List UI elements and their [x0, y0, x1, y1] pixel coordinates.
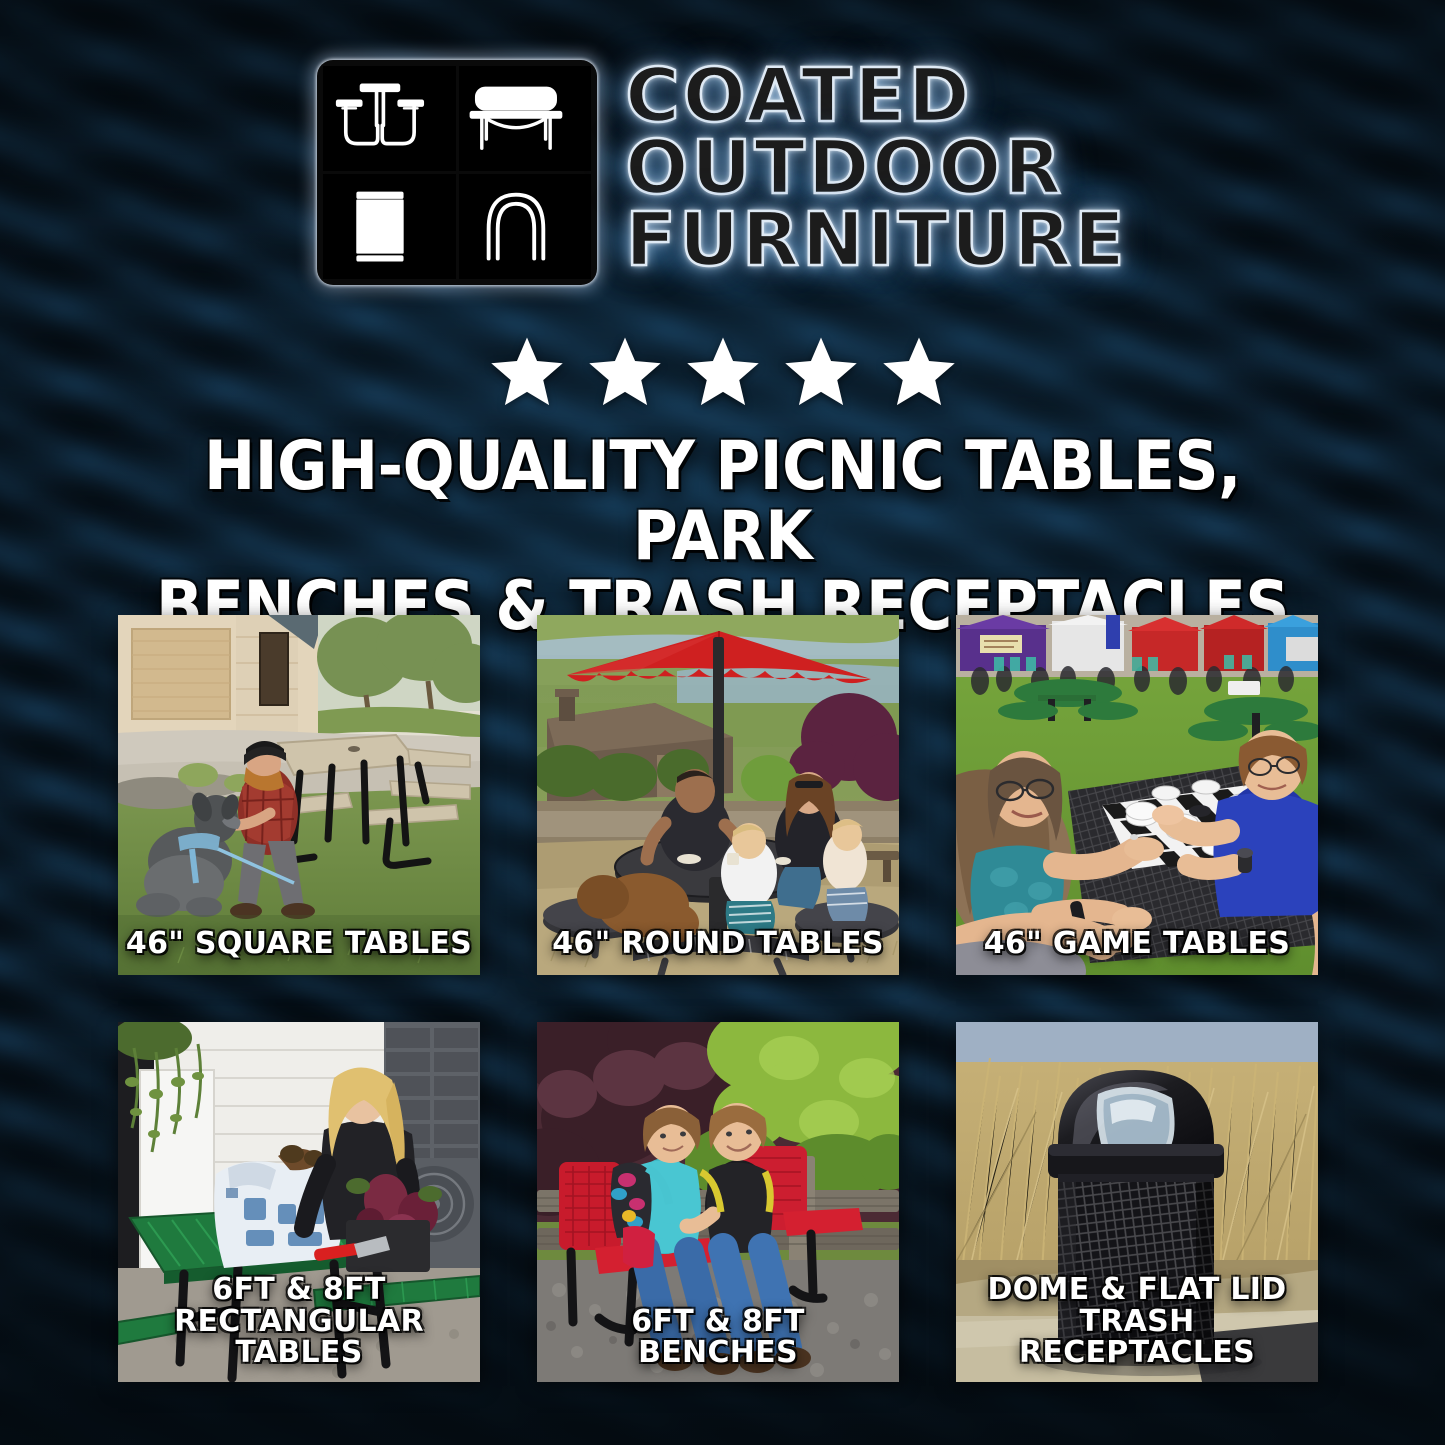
logo-cell-picnic-table	[323, 66, 456, 171]
product-photo-square-tables	[118, 615, 480, 975]
wordmark-line-3: FURNITURE	[625, 206, 1127, 274]
caption-line-2: RECTANGULAR TABLES	[124, 1306, 474, 1368]
star-icon-2	[585, 333, 665, 411]
product-grid: 46" SQUARE TABLES	[118, 615, 1328, 1382]
caption-line-1: 6FT & 8FT	[124, 1274, 474, 1305]
product-photo-game-tables	[956, 615, 1318, 975]
product-tile-square-tables[interactable]: 46" SQUARE TABLES	[118, 615, 480, 975]
caption-line-1: 6FT & 8FT	[543, 1306, 893, 1337]
star-icon-1	[487, 333, 567, 411]
caption-line-2: BENCHES	[543, 1337, 893, 1368]
caption-line-2: TRASH RECEPTACLES	[962, 1306, 1312, 1368]
star-rating	[0, 333, 1445, 411]
headline: HIGH-QUALITY PICNIC TABLES, PARK BENCHES…	[126, 432, 1319, 642]
product-caption-benches: 6FT & 8FT BENCHES	[543, 1306, 893, 1368]
star-icon-4	[781, 333, 861, 411]
trash-receptacle-icon	[323, 181, 456, 272]
advertisement-canvas: COATED OUTDOOR FURNITURE HIGH-QUALITY PI…	[0, 0, 1445, 1445]
brand-wordmark: COATED OUTDOOR FURNITURE	[625, 60, 1127, 278]
caption-line-1: 46" GAME TABLES	[962, 928, 1312, 959]
product-tile-benches[interactable]: 6FT & 8FT BENCHES	[537, 1022, 899, 1382]
bike-rack-icon	[459, 181, 592, 272]
product-caption-game-tables: 46" GAME TABLES	[962, 928, 1312, 959]
headline-line-1: HIGH-QUALITY PICNIC TABLES, PARK	[126, 432, 1319, 572]
logo-cell-bike-rack	[459, 174, 592, 279]
logo-cell-trash-receptacle	[323, 174, 456, 279]
star-icon-3	[683, 333, 763, 411]
star-icon-5	[879, 333, 959, 411]
product-tile-rectangular-tables[interactable]: 6FT & 8FT RECTANGULAR TABLES	[118, 1022, 480, 1382]
product-caption-rectangular-tables: 6FT & 8FT RECTANGULAR TABLES	[124, 1274, 474, 1368]
caption-line-1: 46" SQUARE TABLES	[124, 928, 474, 959]
content-layer: COATED OUTDOOR FURNITURE HIGH-QUALITY PI…	[0, 0, 1445, 1445]
caption-line-1: DOME & FLAT LID	[962, 1274, 1312, 1305]
wordmark-line-1: COATED	[625, 62, 1127, 130]
caption-line-1: 46" ROUND TABLES	[543, 928, 893, 959]
bench-icon	[459, 73, 592, 164]
product-caption-round-tables: 46" ROUND TABLES	[543, 928, 893, 959]
brand-header: COATED OUTDOOR FURNITURE	[0, 60, 1445, 285]
brand-logo-mark	[317, 60, 597, 285]
product-tile-game-tables[interactable]: 46" GAME TABLES	[956, 615, 1318, 975]
product-caption-square-tables: 46" SQUARE TABLES	[124, 928, 474, 959]
product-caption-trash-receptacles: DOME & FLAT LID TRASH RECEPTACLES	[962, 1274, 1312, 1368]
product-tile-trash-receptacles[interactable]: DOME & FLAT LID TRASH RECEPTACLES	[956, 1022, 1318, 1382]
product-tile-round-tables[interactable]: 46" ROUND TABLES	[537, 615, 899, 975]
picnic-table-icon	[323, 73, 456, 164]
wordmark-line-2: OUTDOOR	[625, 134, 1127, 202]
product-photo-round-tables	[537, 615, 899, 975]
logo-cell-bench	[459, 66, 592, 171]
